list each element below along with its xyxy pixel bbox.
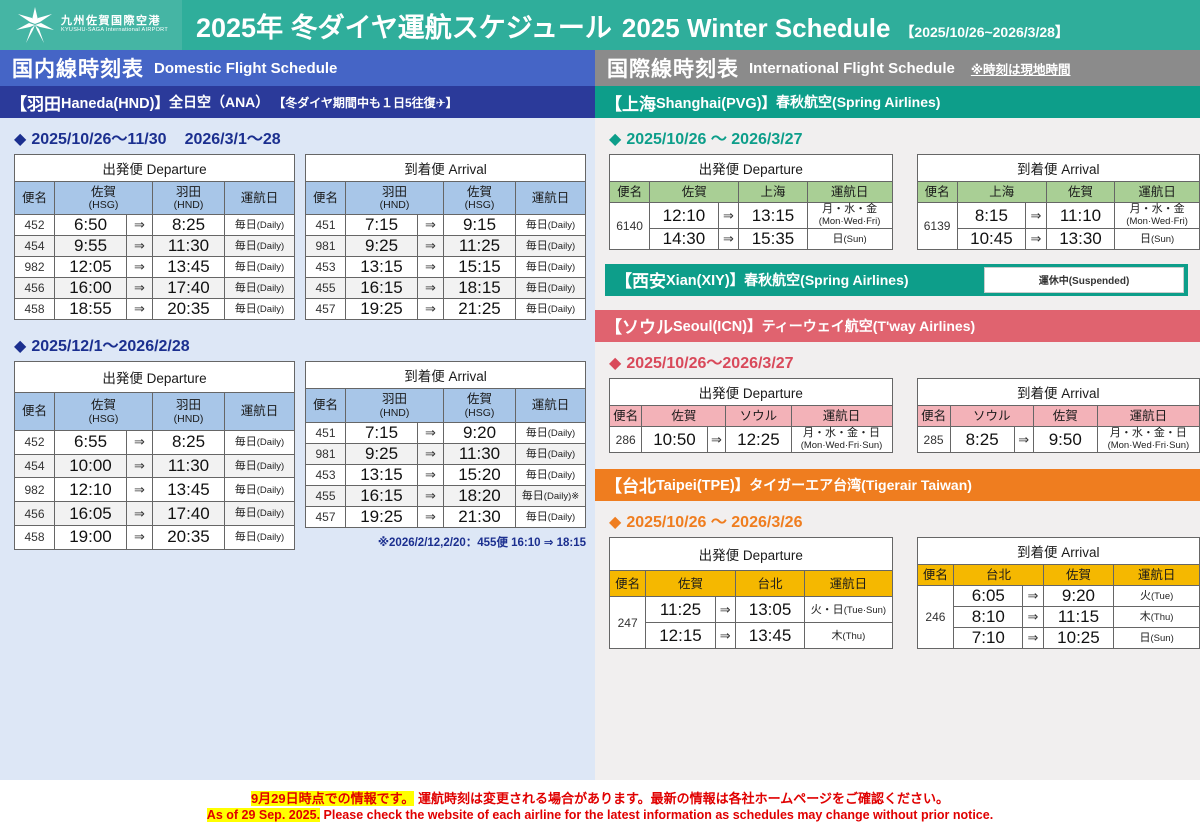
period2-date-a: 2025/12/1～2026/2/28 — [31, 338, 189, 355]
arrow-icon: ⇒ — [418, 257, 444, 278]
taipei-departure-table: 出発便 Departure 便名 佐賀 台北 運航日 247 11:25⇒13:… — [609, 537, 893, 649]
table-row: 7:10⇒10:25 日(Sun) — [917, 628, 1200, 649]
arrow-icon: ⇒ — [1023, 628, 1043, 649]
arrow-icon: ⇒ — [127, 526, 153, 550]
table-row: 6139 8:15⇒11:10 月・水・金(Mon·Wed·Fri) — [917, 203, 1200, 229]
col-dest: 台北 — [735, 571, 805, 597]
col-flightno: 便名 — [306, 389, 346, 422]
domestic-heading-jp: 国内線時刻表 — [12, 53, 144, 83]
table-row: 12:15⇒13:45 木(Thu) — [610, 623, 893, 649]
col-dest: 佐賀 — [1046, 182, 1114, 203]
col-flightno: 便名 — [917, 564, 954, 585]
seoul-departure-table: 出発便 Departure 便名 佐賀 ソウル 運航日 286 10:50⇒12… — [609, 378, 893, 453]
intl-heading-en: International Flight Schedule — [749, 60, 955, 77]
table-row: 98212:05⇒13:45毎日(Daily) — [15, 257, 295, 278]
table-row: 4517:15⇒9:15毎日(Daily) — [306, 215, 586, 236]
domestic-period1-date: ◆2025/10/26～11/302026/3/1～28 — [0, 118, 595, 154]
shanghai-date: ◆2025/10/26 ～ 2026/3/27 — [595, 118, 1200, 154]
table-row: 246 6:05⇒9:20 火(Tue) — [917, 586, 1200, 607]
tp-dep-caption: 出発便 Departure — [610, 537, 893, 570]
logo-text-en: KYUSHU-SAGA International AIRPORT — [61, 28, 168, 34]
col-origin: 佐賀 — [646, 571, 736, 597]
p2-arrival-block: 到着便 Arrival 便名 羽田(HND) 佐賀(HSG) 運航日 4517:… — [305, 361, 586, 549]
shanghai-departure-table: 出発便 Departure 便名 佐賀 上海 運航日 6140 12:10⇒13… — [609, 154, 893, 250]
arrow-icon: ⇒ — [1014, 427, 1033, 453]
haneda-airline: 全日空（ANA） — [169, 92, 269, 112]
taipei-date: ◆2025/10/26 ～ 2026/3/26 — [595, 501, 1200, 537]
diamond-icon: ◆ — [609, 514, 621, 531]
table-row: 9819:25⇒11:25毎日(Daily) — [306, 236, 586, 257]
domestic-heading-en: Domestic Flight Schedule — [154, 60, 337, 77]
col-opdays: 運航日 — [1115, 182, 1200, 203]
haneda-city-en: Haneda(HND)】 — [61, 92, 169, 113]
table-row: 45819:00⇒20:35毎日(Daily) — [15, 526, 295, 550]
arrow-icon: ⇒ — [1026, 228, 1047, 249]
col-opdays: 運航日 — [807, 182, 892, 203]
intl-heading-jp: 国際線時刻表 — [607, 53, 739, 83]
content-columns: 国内線時刻表 Domestic Flight Schedule 【羽田 Hane… — [0, 50, 1200, 780]
col-origin: ソウル — [950, 405, 1033, 426]
col-origin: 佐賀 — [650, 182, 739, 203]
arrow-icon: ⇒ — [127, 236, 153, 257]
col-opdays: 運航日 — [805, 571, 892, 597]
period1-date-b: 2026/3/1～28 — [185, 131, 281, 148]
domestic-spacer — [0, 550, 595, 780]
arrow-icon: ⇒ — [707, 427, 726, 453]
arrow-icon: ⇒ — [718, 203, 739, 229]
route-bar-xian: 【西安 Xian(XIY)】 春秋航空(Spring Airlines) 運休中… — [605, 264, 1188, 296]
col-flightno: 便名 — [917, 405, 950, 426]
international-section-header: 国際線時刻表 International Flight Schedule ※時刻… — [595, 50, 1200, 86]
footer-en-highlight: As of 29 Sep. 2025. — [207, 808, 320, 822]
arrow-icon: ⇒ — [718, 228, 739, 249]
table-row: 4549:55⇒11:30毎日(Daily) — [15, 236, 295, 257]
table-row: 9819:25⇒11:30毎日(Daily) — [306, 443, 586, 464]
taipei-dep-flightno: 247 — [610, 597, 646, 649]
route-bar-taipei: 【台北 Taipei(TPE)】 タイガーエア台湾(Tigerair Taiwa… — [595, 469, 1200, 501]
arrow-icon: ⇒ — [715, 597, 735, 623]
table-row: 10:45⇒13:30 日(Sun) — [917, 228, 1200, 249]
seoul-arrival-table: 到着便 Arrival 便名 ソウル 佐賀 運航日 285 8:25⇒9:50 … — [917, 378, 1200, 453]
arrow-icon: ⇒ — [418, 422, 444, 443]
arrow-icon: ⇒ — [127, 257, 153, 278]
xian-city-en: Xian(XIY)】 — [666, 269, 744, 290]
seoul-date: ◆2025/10/26～2026/3/27 — [595, 342, 1200, 378]
col-flightno: 便名 — [610, 571, 646, 597]
international-column: 国際線時刻表 International Flight Schedule ※時刻… — [595, 50, 1200, 780]
table-row: 45516:15⇒18:20毎日(Daily)※ — [306, 485, 586, 506]
taipei-city-jp: 【台北 — [605, 472, 656, 497]
seoul-city-jp: 【ソウル — [605, 313, 673, 338]
haneda-city-jp: 【羽田 — [10, 90, 61, 115]
col-dest: 羽田(HND) — [153, 393, 225, 431]
col-opdays: 運航日 — [225, 182, 295, 215]
domestic-period2-date: ◆2025/12/1～2026/2/28 — [0, 320, 595, 361]
diamond-icon: ◆ — [14, 338, 26, 355]
arrow-icon: ⇒ — [127, 502, 153, 526]
table-row: 45313:15⇒15:15毎日(Daily) — [306, 257, 586, 278]
col-flightno: 便名 — [306, 182, 346, 215]
p1-arrival-table: 到着便 Arrival 便名 羽田(HND) 佐賀(HSG) 運航日 4517:… — [305, 154, 586, 320]
arrow-icon: ⇒ — [127, 278, 153, 299]
col-dest: 佐賀(HSG) — [444, 182, 516, 215]
table-row: 45818:55⇒20:35毎日(Daily) — [15, 299, 295, 320]
diamond-icon: ◆ — [609, 131, 621, 148]
arrow-icon: ⇒ — [127, 430, 153, 454]
route-bar-seoul: 【ソウル Seoul(ICN)】 ティーウェイ航空(T'way Airlines… — [595, 310, 1200, 342]
table-row: 45410:00⇒11:30毎日(Daily) — [15, 454, 295, 478]
route-bar-haneda: 【羽田 Haneda(HND)】 全日空（ANA） 【冬ダイヤ期間中も１日5往復… — [0, 86, 595, 118]
table-row: 45616:00⇒17:40毎日(Daily) — [15, 278, 295, 299]
schedule-poster: 九州佐賀国際空港 KYUSHU-SAGA International AIRPO… — [0, 0, 1200, 827]
col-opdays: 運航日 — [1097, 405, 1199, 426]
col-dest: 佐賀 — [1043, 564, 1114, 585]
taipei-arrival-table: 到着便 Arrival 便名 台北 佐賀 運航日 246 6:05⇒9:20 火… — [917, 537, 1200, 649]
arrow-icon: ⇒ — [418, 278, 444, 299]
title-english: 2025 Winter Schedule — [622, 13, 891, 44]
p1-dep-caption: 出発便 Departure — [15, 155, 295, 182]
xian-airline: 春秋航空(Spring Airlines) — [744, 270, 908, 290]
arrow-icon: ⇒ — [418, 236, 444, 257]
col-origin: 羽田(HND) — [346, 182, 444, 215]
title-date-range: 【2025/10/26~2026/3/28】 — [900, 22, 1069, 42]
arrow-icon: ⇒ — [715, 623, 735, 649]
taipei-tables: 出発便 Departure 便名 佐賀 台北 運航日 247 11:25⇒13:… — [595, 537, 1200, 649]
col-opdays: 運航日 — [791, 405, 892, 426]
col-dest: 佐賀 — [1033, 405, 1097, 426]
starburst-icon — [14, 5, 56, 45]
col-origin: 佐賀(HSG) — [55, 182, 153, 215]
arrow-icon: ⇒ — [418, 485, 444, 506]
route-bar-shanghai: 【上海 Shanghai(PVG)】 春秋航空(Spring Airlines) — [595, 86, 1200, 118]
sh-dep-caption: 出発便 Departure — [610, 155, 893, 182]
taipei-arr-flightno: 246 — [917, 586, 954, 649]
table-row: 4517:15⇒9:20毎日(Daily) — [306, 422, 586, 443]
main-title: 2025年 冬ダイヤ運航スケジュール 2025 Winter Schedule … — [182, 6, 1200, 45]
diamond-icon: ◆ — [14, 131, 26, 148]
seoul-city-en: Seoul(ICN)】 — [673, 315, 762, 336]
table-row: 45719:25⇒21:25毎日(Daily) — [306, 299, 586, 320]
table-row: 98212:10⇒13:45毎日(Daily) — [15, 478, 295, 502]
arrow-icon: ⇒ — [127, 299, 153, 320]
footer-line-jp: 9月29日時点での情報です。 運航時刻は変更される場合があります。最新の情報は各… — [251, 788, 949, 807]
col-opdays: 運航日 — [1114, 564, 1200, 585]
arrow-icon: ⇒ — [1026, 203, 1047, 229]
shanghai-dep-flightno: 6140 — [610, 203, 650, 250]
domestic-column: 国内線時刻表 Domestic Flight Schedule 【羽田 Hane… — [0, 50, 595, 780]
shanghai-airline: 春秋航空(Spring Airlines) — [776, 92, 940, 112]
col-origin: 羽田(HND) — [346, 389, 444, 422]
xian-status-badge: 運休中(Suspended) — [984, 267, 1184, 293]
table-row: 4526:55⇒8:25毎日(Daily) — [15, 430, 295, 454]
arrow-icon: ⇒ — [127, 215, 153, 236]
table-row: 286 10:50⇒12:25 月・水・金・日(Mon·Wed·Fri·Sun) — [610, 427, 893, 453]
tp-arr-caption: 到着便 Arrival — [917, 537, 1200, 564]
domestic-footnote: ※2026/2/12,2/20：455便 16:10 ⇒ 18:15 — [305, 528, 586, 550]
p2-departure-table: 出発便 Departure 便名 佐賀(HSG) 羽田(HND) 運航日 452… — [14, 361, 295, 549]
col-flightno: 便名 — [610, 182, 650, 203]
title-bar: 九州佐賀国際空港 KYUSHU-SAGA International AIRPO… — [0, 0, 1200, 50]
table-row: 285 8:25⇒9:50 月・水・金・日(Mon·Wed·Fri·Sun) — [917, 427, 1200, 453]
airport-logo: 九州佐賀国際空港 KYUSHU-SAGA International AIRPO… — [0, 0, 182, 50]
col-dest: ソウル — [726, 405, 791, 426]
col-flightno: 便名 — [15, 182, 55, 215]
shanghai-city-jp: 【上海 — [605, 90, 656, 115]
arrow-icon: ⇒ — [1023, 586, 1043, 607]
col-flightno: 便名 — [917, 182, 957, 203]
p2-dep-caption: 出発便 Departure — [15, 362, 295, 393]
table-row: 45516:15⇒18:15毎日(Daily) — [306, 278, 586, 299]
p2-arr-caption: 到着便 Arrival — [306, 362, 586, 389]
table-row: 4526:50⇒8:25毎日(Daily) — [15, 215, 295, 236]
table-row: 45616:05⇒17:40毎日(Daily) — [15, 502, 295, 526]
title-japanese: 2025年 冬ダイヤ運航スケジュール — [196, 6, 612, 45]
table-row: 247 11:25⇒13:05 火・日(Tue·Sun) — [610, 597, 893, 623]
p1-arr-caption: 到着便 Arrival — [306, 155, 586, 182]
se-arr-caption: 到着便 Arrival — [917, 378, 1200, 405]
footer-jp-rest: 運航時刻は変更される場合があります。最新の情報は各社ホームページをご確認ください… — [418, 791, 949, 806]
haneda-extra-note: 【冬ダイヤ期間中も１日5往復✈】 — [273, 94, 457, 111]
domestic-period2-tables: 出発便 Departure 便名 佐賀(HSG) 羽田(HND) 運航日 452… — [0, 361, 595, 549]
table-row: 45719:25⇒21:30毎日(Daily) — [306, 506, 586, 527]
shanghai-arr-flightno: 6139 — [917, 203, 957, 250]
arrow-icon: ⇒ — [418, 443, 444, 464]
sh-arr-caption: 到着便 Arrival — [917, 155, 1200, 182]
arrow-icon: ⇒ — [418, 215, 444, 236]
footer-line-en: As of 29 Sep. 2025. Please check the web… — [207, 808, 993, 822]
shanghai-city-en: Shanghai(PVG)】 — [656, 92, 776, 113]
col-dest: 佐賀(HSG) — [444, 389, 516, 422]
col-origin: 上海 — [957, 182, 1046, 203]
col-opdays: 運航日 — [516, 182, 586, 215]
col-flightno: 便名 — [610, 405, 642, 426]
arrow-icon: ⇒ — [418, 299, 444, 320]
shanghai-tables: 出発便 Departure 便名 佐賀 上海 運航日 6140 12:10⇒13… — [595, 154, 1200, 250]
arrow-icon: ⇒ — [127, 454, 153, 478]
table-row: 6140 12:10⇒13:15 月・水・金(Mon·Wed·Fri) — [610, 203, 893, 229]
table-row: 14:30⇒15:35 日(Sun) — [610, 228, 893, 249]
table-row: 8:10⇒11:15 木(Thu) — [917, 607, 1200, 628]
footer-jp-highlight: 9月29日時点での情報です。 — [251, 791, 414, 806]
col-flightno: 便名 — [15, 393, 55, 431]
arrow-icon: ⇒ — [1023, 607, 1043, 628]
intl-localtime-note: ※時刻は現地時間 — [971, 59, 1071, 78]
col-opdays: 運航日 — [225, 393, 295, 431]
seoul-tables: 出発便 Departure 便名 佐賀 ソウル 運航日 286 10:50⇒12… — [595, 378, 1200, 453]
taipei-airline: タイガーエア台湾(Tigerair Taiwan) — [749, 475, 972, 495]
arrow-icon: ⇒ — [418, 506, 444, 527]
period1-date-a: 2025/10/26～11/30 — [31, 131, 166, 148]
domestic-period1-tables: 出発便 Departure 便名 佐賀(HSG) 羽田(HND) 運航日 452… — [0, 154, 595, 320]
se-dep-caption: 出発便 Departure — [610, 378, 893, 405]
footer-en-rest: Please check the website of each airline… — [324, 808, 994, 822]
table-row: 45313:15⇒15:20毎日(Daily) — [306, 464, 586, 485]
taipei-city-en: Taipei(TPE)】 — [656, 474, 749, 495]
international-spacer — [595, 649, 1200, 780]
shanghai-arrival-table: 到着便 Arrival 便名 上海 佐賀 運航日 6139 8:15⇒11:10… — [917, 154, 1200, 250]
diamond-icon: ◆ — [609, 355, 621, 372]
col-origin: 佐賀 — [642, 405, 726, 426]
domestic-section-header: 国内線時刻表 Domestic Flight Schedule — [0, 50, 595, 86]
seoul-airline: ティーウェイ航空(T'way Airlines) — [762, 316, 976, 336]
col-dest: 上海 — [739, 182, 807, 203]
col-origin: 佐賀(HSG) — [55, 393, 153, 431]
col-origin: 台北 — [954, 564, 1043, 585]
footer-disclaimer: 9月29日時点での情報です。 運航時刻は変更される場合があります。最新の情報は各… — [0, 780, 1200, 827]
col-dest: 羽田(HND) — [153, 182, 225, 215]
arrow-icon: ⇒ — [127, 478, 153, 502]
col-opdays: 運航日 — [516, 389, 586, 422]
arrow-icon: ⇒ — [418, 464, 444, 485]
p2-arrival-table: 到着便 Arrival 便名 羽田(HND) 佐賀(HSG) 運航日 4517:… — [305, 361, 586, 527]
p1-departure-table: 出発便 Departure 便名 佐賀(HSG) 羽田(HND) 運航日 452… — [14, 154, 295, 320]
xian-city-jp: 【西安 — [615, 267, 666, 292]
